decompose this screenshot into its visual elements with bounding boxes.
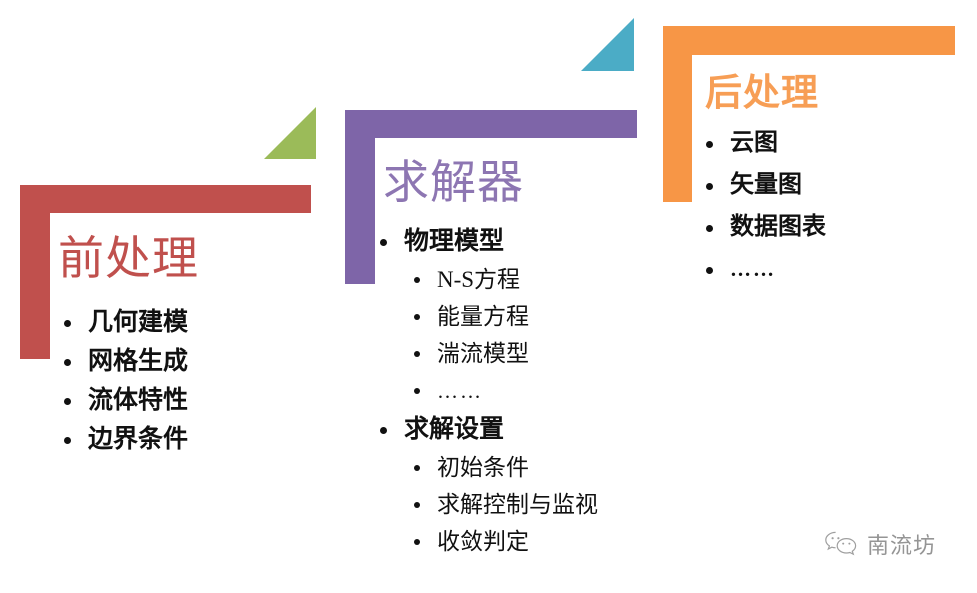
bullet-dot-icon: [414, 502, 420, 508]
list-item-label: 几何建模: [88, 309, 188, 336]
bullet-dot-icon: [706, 141, 713, 148]
slide-canvas: 前处理 几何建模 网格生成 流体特性 边界条件 求解器: [0, 0, 977, 593]
solver-list: 物理模型 N-S方程 能量方程 湍流模型 …… 求解设置: [374, 222, 598, 560]
bullet-dot-icon: [706, 267, 713, 274]
pre-processing-list: 几何建模 网格生成 流体特性 边界条件: [58, 303, 188, 459]
list-item: 边界条件: [58, 420, 188, 459]
list-item-label: 网格生成: [88, 348, 188, 375]
pre-processing-title: 前处理: [58, 222, 199, 288]
list-item-label: 求解控制与监视: [437, 492, 598, 517]
post-processing-list: 云图 矢量图 数据图表 ……: [700, 122, 826, 290]
list-item: 收敛判定: [374, 523, 598, 560]
list-item-label: 矢量图: [730, 172, 802, 198]
list-item: 流体特性: [58, 381, 188, 420]
pre-processing-side-bar: [20, 185, 50, 359]
solver-top-bar: [345, 110, 637, 138]
list-item: ……: [374, 372, 598, 410]
list-item-label: 求解设置: [404, 416, 504, 443]
list-item-label: ……: [730, 257, 776, 281]
list-item-label: 湍流模型: [437, 341, 529, 366]
bullet-dot-icon: [380, 427, 387, 434]
bullet-dot-icon: [414, 539, 420, 545]
list-item: ……: [700, 248, 826, 290]
list-item: 求解设置: [374, 410, 598, 449]
list-item: 云图: [700, 122, 826, 164]
watermark: 南流坊: [824, 528, 936, 560]
post-processing-title: 后处理: [705, 62, 819, 116]
list-item: 矢量图: [700, 164, 826, 206]
list-item-label: 初始条件: [437, 455, 529, 480]
list-item: 初始条件: [374, 449, 598, 486]
bullet-dot-icon: [414, 465, 420, 471]
list-item-label: 数据图表: [730, 214, 826, 240]
pre-processing-top-bar: [20, 185, 311, 213]
solver-title: 求解器: [383, 146, 524, 212]
bullet-dot-icon: [414, 277, 420, 283]
bullet-dot-icon: [706, 225, 713, 232]
bullet-dot-icon: [706, 183, 713, 190]
list-item-label: 云图: [730, 130, 778, 156]
list-item: 物理模型: [374, 222, 598, 261]
bullet-dot-icon: [64, 320, 71, 327]
list-item-label: 物理模型: [404, 228, 504, 255]
post-processing-top-bar: [663, 26, 955, 55]
list-item: 求解控制与监视: [374, 486, 598, 523]
solver-side-bar: [345, 110, 375, 284]
teal-triangle-icon: [581, 18, 634, 71]
bullet-dot-icon: [64, 359, 71, 366]
list-item-label: ……: [437, 379, 483, 403]
wechat-icon: [824, 531, 860, 557]
bullet-dot-icon: [64, 398, 71, 405]
post-processing-side-bar: [663, 26, 692, 202]
list-item: 数据图表: [700, 206, 826, 248]
list-item-label: N-S方程: [437, 267, 520, 292]
bullet-dot-icon: [380, 239, 387, 246]
list-item-label: 流体特性: [88, 387, 188, 414]
watermark-text: 南流坊: [867, 528, 936, 560]
list-item-label: 能量方程: [437, 304, 529, 329]
list-item: 网格生成: [58, 342, 188, 381]
list-item: N-S方程: [374, 261, 598, 298]
list-item: 湍流模型: [374, 335, 598, 372]
list-item: 几何建模: [58, 303, 188, 342]
bullet-dot-icon: [414, 314, 420, 320]
list-item-label: 收敛判定: [437, 529, 529, 554]
list-item-label: 边界条件: [88, 426, 188, 453]
bullet-dot-icon: [414, 351, 420, 357]
bullet-dot-icon: [414, 388, 420, 394]
list-item: 能量方程: [374, 298, 598, 335]
bullet-dot-icon: [64, 437, 71, 444]
green-triangle-icon: [264, 107, 316, 159]
